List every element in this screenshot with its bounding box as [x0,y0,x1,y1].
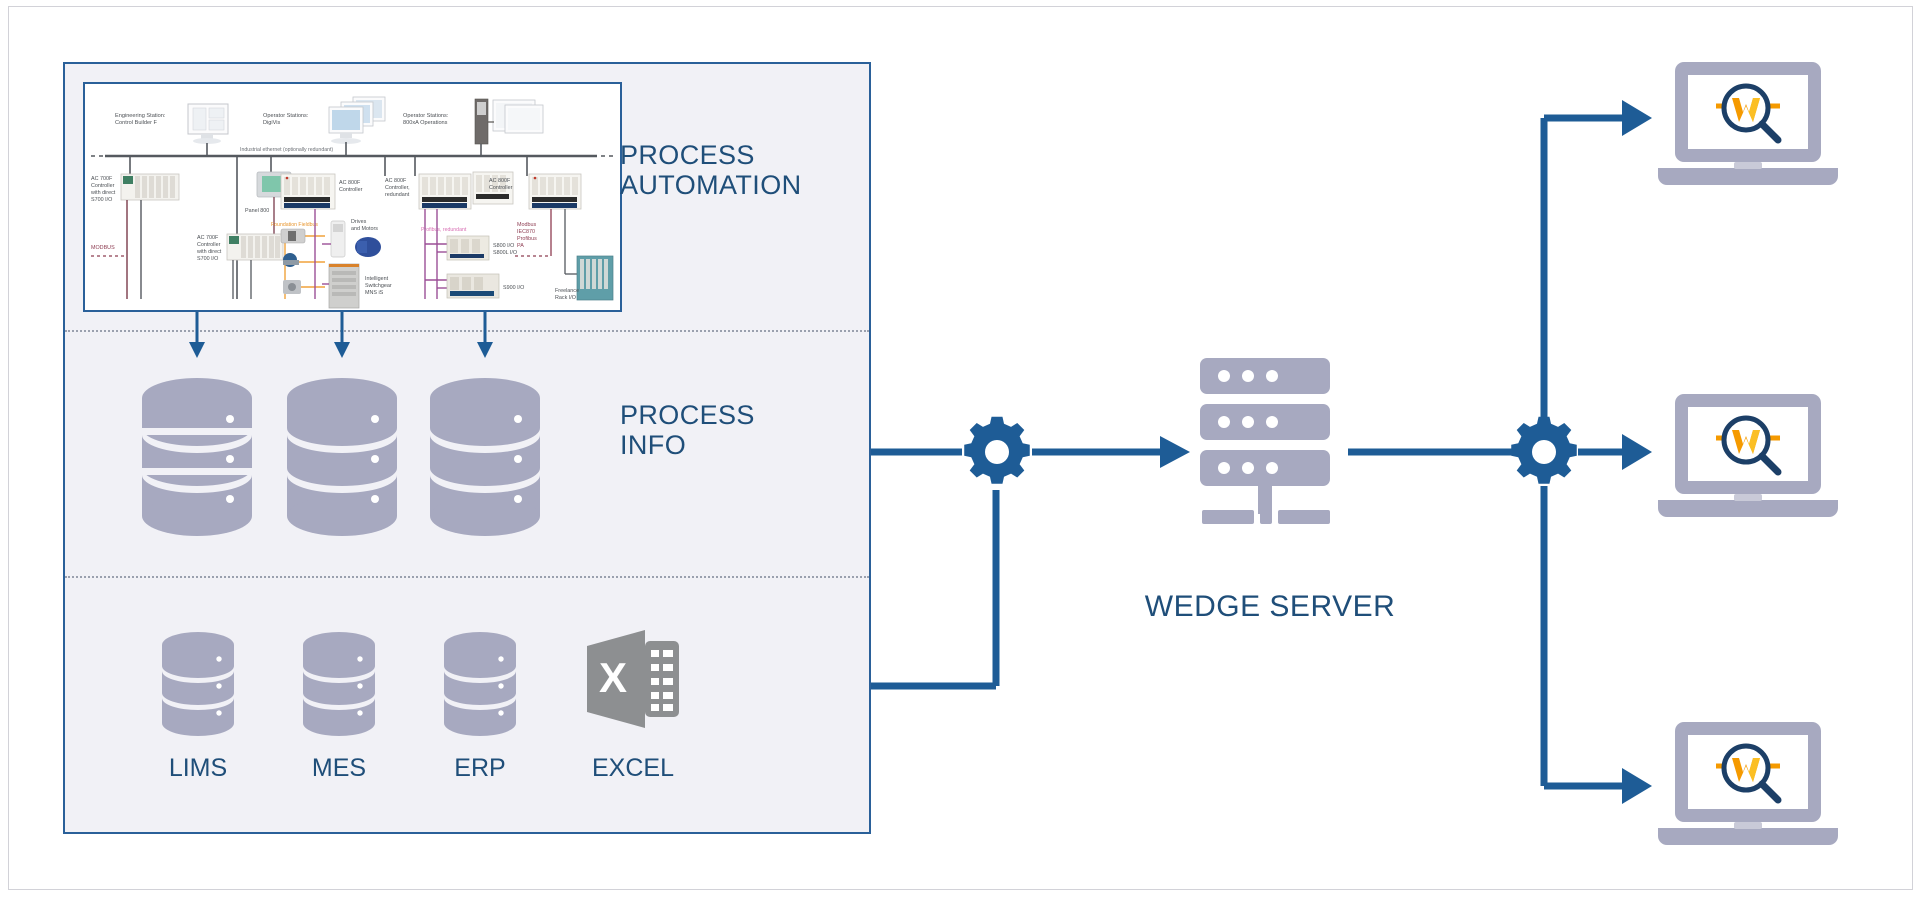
client-laptop [1648,718,1848,853]
server-rack-icon [1182,358,1348,558]
diagram-canvas: Industrial ethernet (optionally redundan… [0,0,1921,897]
gear-right-icon [1511,417,1577,484]
client-laptop [1648,390,1848,525]
wedge-server-label: WEDGE SERVER [1060,590,1480,624]
flow-connectors [0,0,1921,897]
gear-left-icon [964,417,1030,484]
client-laptop [1648,58,1848,193]
